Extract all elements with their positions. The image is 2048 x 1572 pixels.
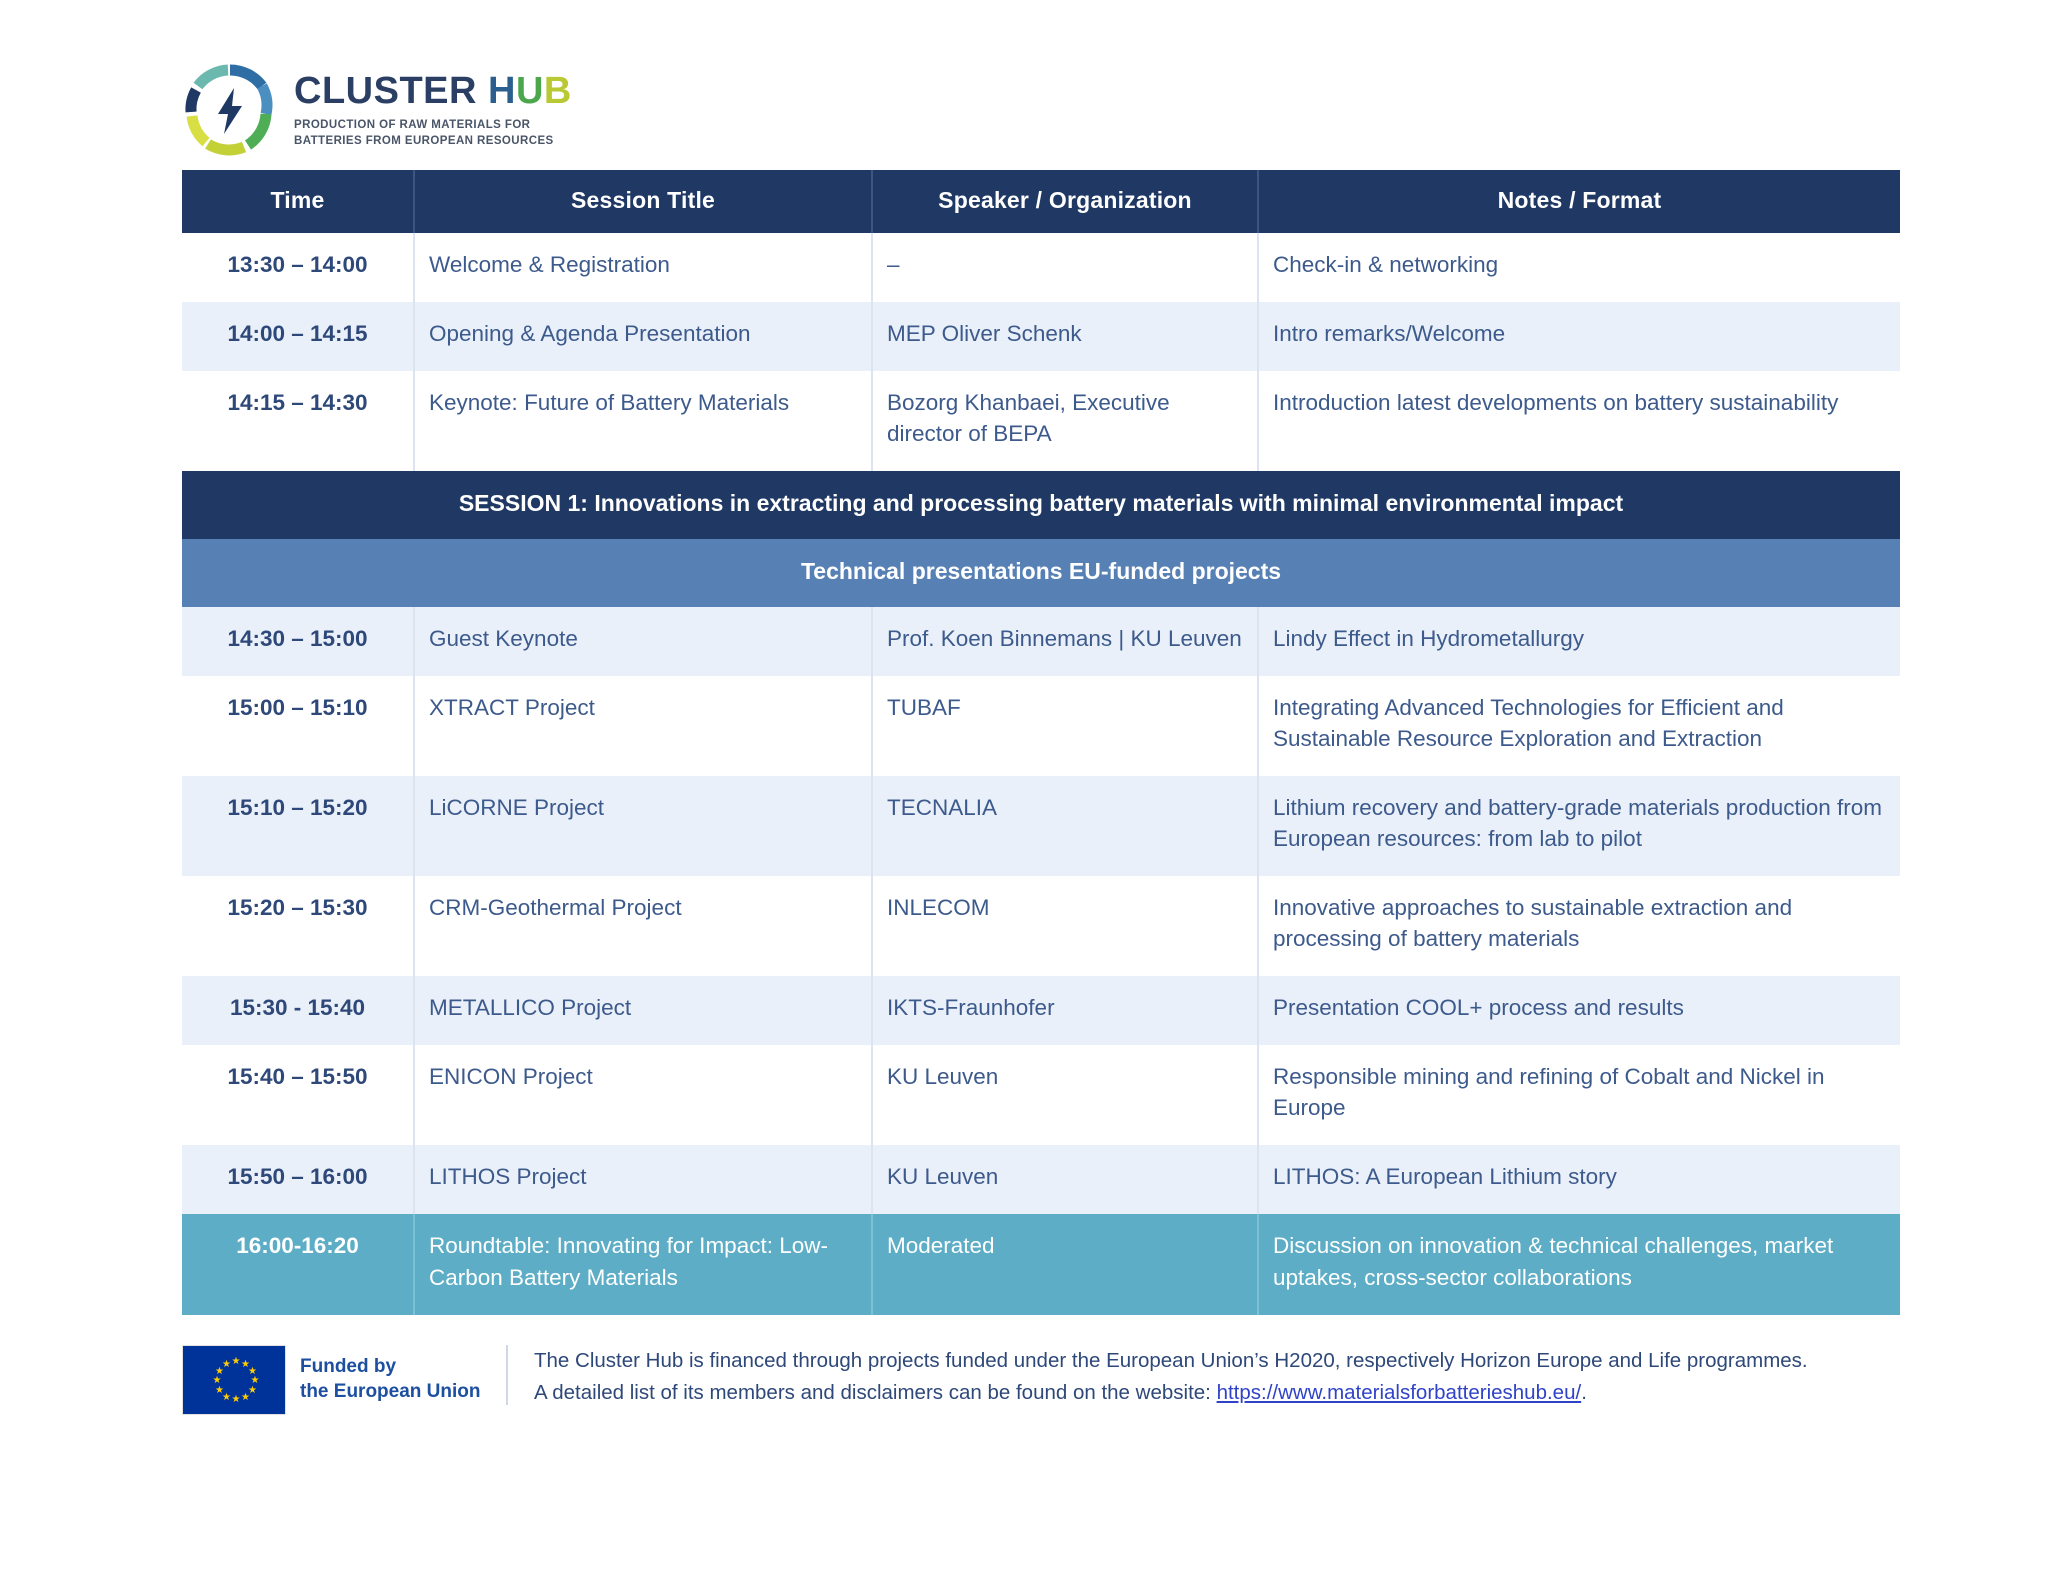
cluster-hub-circular-logo-icon xyxy=(182,62,278,158)
eu-star-icon: ★ xyxy=(215,1368,222,1375)
eu-star-icon: ★ xyxy=(241,1361,248,1368)
table-row: 15:00 – 15:10XTRACT ProjectTUBAFIntegrat… xyxy=(182,676,1900,776)
cell-session-title: LITHOS Project xyxy=(414,1145,872,1214)
cell-notes: Integrating Advanced Technologies for Ef… xyxy=(1258,676,1900,776)
cell-notes: Innovative approaches to sustainable ext… xyxy=(1258,876,1900,976)
cell-time: 15:50 – 16:00 xyxy=(182,1145,414,1214)
column-header-notes: Notes / Format xyxy=(1258,170,1900,233)
table-row: 15:30 - 15:40METALLICO ProjectIKTS-Fraun… xyxy=(182,976,1900,1045)
footer-divider xyxy=(506,1345,508,1405)
eu-star-icon: ★ xyxy=(232,1358,239,1365)
logo-tagline: PRODUCTION OF RAW MATERIALS FOR BATTERIE… xyxy=(294,117,572,150)
page-header: CLUSTER HUB PRODUCTION OF RAW MATERIALS … xyxy=(0,0,2048,170)
session-banner-row: SESSION 1: Innovations in extracting and… xyxy=(182,471,1900,539)
cluster-hub-logo: CLUSTER HUB PRODUCTION OF RAW MATERIALS … xyxy=(182,62,2048,158)
eu-funding-label-line1: Funded by xyxy=(300,1355,481,1379)
eu-star-icon: ★ xyxy=(251,1377,258,1384)
cell-time: 15:20 – 15:30 xyxy=(182,876,414,976)
cell-session-title: Keynote: Future of Battery Materials xyxy=(414,371,872,471)
table-row: 16:00-16:20Roundtable: Innovating for Im… xyxy=(182,1214,1900,1314)
cell-session-title: LiCORNE Project xyxy=(414,776,872,876)
footer-disclaimer-line1: The Cluster Hub is financed through proj… xyxy=(534,1345,1808,1377)
table-header-row: Time Session Title Speaker / Organizatio… xyxy=(182,170,1900,233)
eu-star-icon: ★ xyxy=(213,1377,220,1384)
footer-disclaimer-suffix: . xyxy=(1581,1381,1587,1404)
cell-notes: Presentation COOL+ process and results xyxy=(1258,976,1900,1045)
cell-notes: Lindy Effect in Hydrometallurgy xyxy=(1258,607,1900,676)
logo-wordmark: CLUSTER HUB PRODUCTION OF RAW MATERIALS … xyxy=(294,70,572,149)
cell-speaker: KU Leuven xyxy=(872,1145,1258,1214)
cell-time: 16:00-16:20 xyxy=(182,1214,414,1314)
cell-session-title: XTRACT Project xyxy=(414,676,872,776)
cell-time: 15:10 – 15:20 xyxy=(182,776,414,876)
table-row: 15:10 – 15:20LiCORNE ProjectTECNALIALith… xyxy=(182,776,1900,876)
cell-speaker: KU Leuven xyxy=(872,1045,1258,1145)
cell-notes: Introduction latest developments on batt… xyxy=(1258,371,1900,471)
cell-speaker: TECNALIA xyxy=(872,776,1258,876)
cell-notes: Lithium recovery and battery-grade mater… xyxy=(1258,776,1900,876)
logo-tagline-line2: BATTERIES FROM EUROPEAN RESOURCES xyxy=(294,133,572,149)
cell-time: 15:30 - 15:40 xyxy=(182,976,414,1045)
logo-word-cluster: CLUSTER xyxy=(294,70,477,112)
cell-session-title: METALLICO Project xyxy=(414,976,872,1045)
table-row: 14:30 – 15:00Guest KeynoteProf. Koen Bin… xyxy=(182,607,1900,676)
eu-funding-label-line2: the European Union xyxy=(300,1380,481,1404)
cell-speaker: – xyxy=(872,233,1258,302)
subsection-banner-row: Technical presentations EU-funded projec… xyxy=(182,539,1900,607)
logo-word-u: U xyxy=(516,70,544,112)
eu-funding-block: ★★★★★★★★★★★★ Funded by the European Unio… xyxy=(182,1341,498,1415)
logo-word-h: H xyxy=(488,70,516,112)
agenda-table-container: Time Session Title Speaker / Organizatio… xyxy=(0,170,2048,1315)
agenda-page: CLUSTER HUB PRODUCTION OF RAW MATERIALS … xyxy=(0,0,2048,1572)
table-body: 13:30 – 14:00Welcome & Registration–Chec… xyxy=(182,233,1900,1315)
cell-notes: Responsible mining and refining of Cobal… xyxy=(1258,1045,1900,1145)
cell-notes: LITHOS: A European Lithium story xyxy=(1258,1145,1900,1214)
logo-word-b: B xyxy=(544,70,572,112)
agenda-table: Time Session Title Speaker / Organizatio… xyxy=(182,170,1900,1315)
cell-time: 13:30 – 14:00 xyxy=(182,233,414,302)
table-row: 15:50 – 16:00LITHOS ProjectKU LeuvenLITH… xyxy=(182,1145,1900,1214)
table-row: 14:00 – 14:15Opening & Agenda Presentati… xyxy=(182,302,1900,371)
european-union-flag-icon: ★★★★★★★★★★★★ xyxy=(182,1345,286,1415)
table-row: 13:30 – 14:00Welcome & Registration–Chec… xyxy=(182,233,1900,302)
cell-notes: Intro remarks/Welcome xyxy=(1258,302,1900,371)
cell-speaker: INLECOM xyxy=(872,876,1258,976)
cell-notes: Discussion on innovation & technical cha… xyxy=(1258,1214,1900,1314)
footer-disclaimer: The Cluster Hub is financed through proj… xyxy=(534,1341,1808,1410)
eu-funding-label: Funded by the European Union xyxy=(300,1355,481,1404)
table-header: Time Session Title Speaker / Organizatio… xyxy=(182,170,1900,233)
cell-session-title: Opening & Agenda Presentation xyxy=(414,302,872,371)
cell-session-title: CRM-Geothermal Project xyxy=(414,876,872,976)
cell-time: 15:00 – 15:10 xyxy=(182,676,414,776)
cell-time: 14:00 – 14:15 xyxy=(182,302,414,371)
cell-speaker: MEP Oliver Schenk xyxy=(872,302,1258,371)
cell-speaker: Prof. Koen Binnemans | KU Leuven xyxy=(872,607,1258,676)
logo-title: CLUSTER HUB xyxy=(294,72,572,112)
cell-session-title: Roundtable: Innovating for Impact: Low-C… xyxy=(414,1214,872,1314)
table-row: 14:15 – 14:30Keynote: Future of Battery … xyxy=(182,371,1900,471)
eu-star-icon: ★ xyxy=(222,1361,229,1368)
cell-notes: Check-in & networking xyxy=(1258,233,1900,302)
cell-speaker: Moderated xyxy=(872,1214,1258,1314)
cluster-hub-website-link[interactable]: https://www.materialsforbatterieshub.eu/ xyxy=(1217,1381,1582,1404)
cell-time: 14:30 – 15:00 xyxy=(182,607,414,676)
table-row: 15:40 – 15:50ENICON ProjectKU LeuvenResp… xyxy=(182,1045,1900,1145)
footer-disclaimer-prefix: A detailed list of its members and discl… xyxy=(534,1381,1217,1404)
page-footer: ★★★★★★★★★★★★ Funded by the European Unio… xyxy=(0,1315,2048,1415)
cell-session-title: Guest Keynote xyxy=(414,607,872,676)
banner-text: Technical presentations EU-funded projec… xyxy=(182,539,1900,607)
logo-tagline-line1: PRODUCTION OF RAW MATERIALS FOR xyxy=(294,117,572,133)
column-header-session-title: Session Title xyxy=(414,170,872,233)
cell-speaker: TUBAF xyxy=(872,676,1258,776)
column-header-time: Time xyxy=(182,170,414,233)
footer-disclaimer-line2: A detailed list of its members and discl… xyxy=(534,1377,1808,1409)
column-header-speaker: Speaker / Organization xyxy=(872,170,1258,233)
eu-star-icon: ★ xyxy=(232,1396,239,1403)
cell-session-title: ENICON Project xyxy=(414,1045,872,1145)
cell-speaker: IKTS-Fraunhofer xyxy=(872,976,1258,1045)
cell-time: 14:15 – 14:30 xyxy=(182,371,414,471)
eu-star-icon: ★ xyxy=(248,1368,255,1375)
cell-time: 15:40 – 15:50 xyxy=(182,1045,414,1145)
cell-speaker: Bozorg Khanbaei, Executive director of B… xyxy=(872,371,1258,471)
table-row: 15:20 – 15:30CRM-Geothermal ProjectINLEC… xyxy=(182,876,1900,976)
eu-star-icon: ★ xyxy=(215,1387,222,1394)
cell-session-title: Welcome & Registration xyxy=(414,233,872,302)
banner-text: SESSION 1: Innovations in extracting and… xyxy=(182,471,1900,539)
eu-star-icon: ★ xyxy=(241,1394,248,1401)
